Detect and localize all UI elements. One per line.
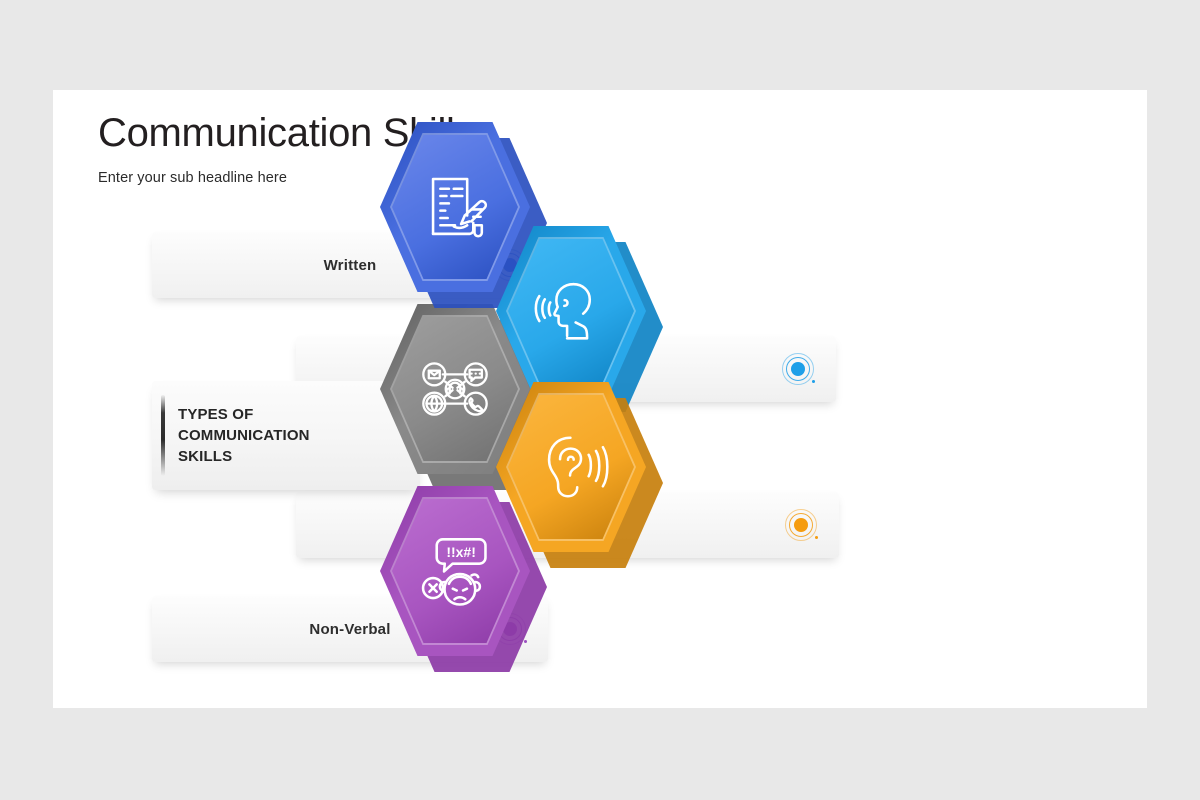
speaking-head-icon (532, 272, 610, 350)
marker-core-dot (791, 362, 805, 376)
infographic-diagram: Written Verbal Listening (53, 90, 1147, 708)
marker-accent-dot (815, 536, 819, 540)
communication-network-icon (416, 350, 494, 428)
marker-accent-dot (812, 380, 816, 384)
slide-canvas: Communication Skills Enter your sub head… (53, 90, 1147, 708)
status-marker-listening[interactable] (785, 509, 817, 541)
marker-core-dot (794, 518, 808, 532)
center-label-text: TYPES OF COMMUNICATION SKILLS (178, 404, 310, 468)
status-marker-verbal[interactable] (782, 353, 814, 385)
ear-listening-icon (532, 428, 610, 506)
document-pen-icon (416, 168, 494, 246)
hexagon-verbal[interactable] (496, 226, 646, 396)
angry-speech-faces-icon: !!x#! (416, 532, 494, 610)
svg-text:!!x#!: !!x#! (446, 544, 476, 560)
hexagon-non-verbal[interactable]: !!x#! (380, 486, 530, 656)
